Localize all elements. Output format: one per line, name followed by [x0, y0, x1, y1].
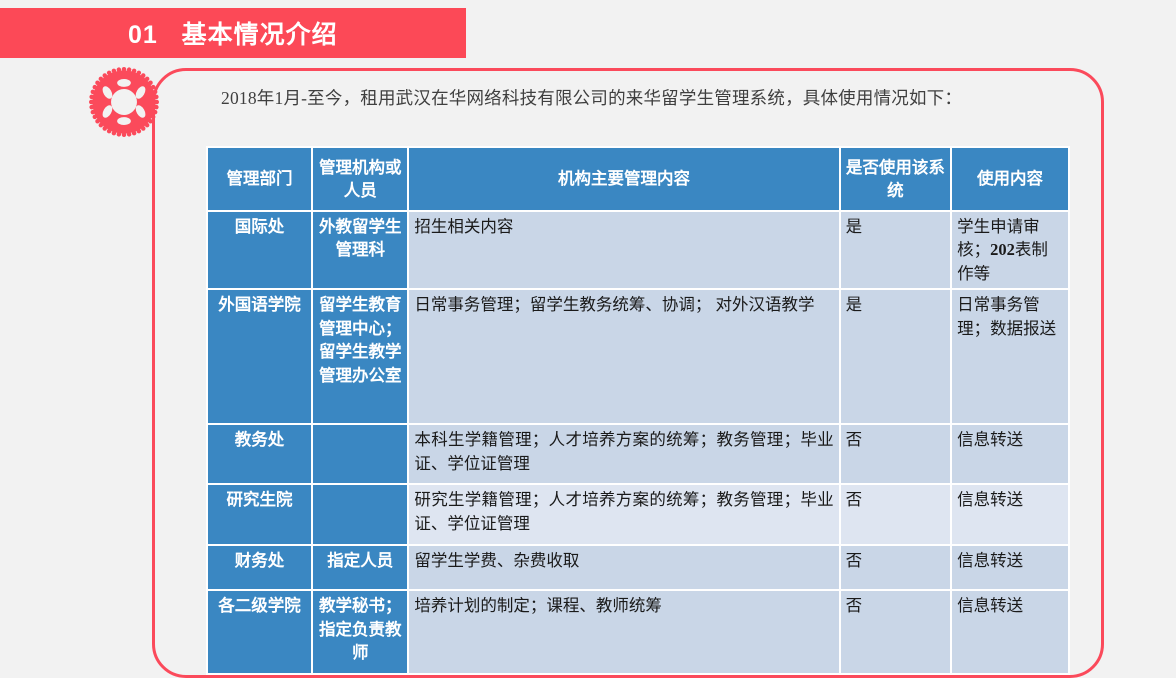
cell-content: 培养计划的制定；课程、教师统筹 [409, 591, 838, 673]
column-header-content: 机构主要管理内容 [409, 148, 838, 210]
cell-department: 财务处 [208, 546, 311, 589]
cell-department: 研究生院 [208, 485, 311, 544]
cell-usage: 信息转送 [952, 591, 1068, 673]
table-row: 教务处 本科生学籍管理；人才培养方案的统筹；教务管理；毕业证、学位证管理 否 信… [208, 425, 1068, 483]
cell-content: 留学生学费、杂费收取 [409, 546, 838, 589]
table-row: 国际处 外教留学生管理科 招生相关内容 是 学生申请审核；202表制作等 [208, 212, 1068, 288]
cell-usage: 信息转送 [952, 546, 1068, 589]
cell-usage: 日常事务管理；数据报送 [952, 290, 1068, 423]
cell-department: 教务处 [208, 425, 311, 483]
column-header-organization: 管理机构或人员 [313, 148, 407, 210]
page-title: 01 基本情况介绍 [128, 15, 338, 51]
cell-department: 国际处 [208, 212, 311, 288]
gear-icon [88, 66, 160, 138]
cell-organization: 指定人员 [313, 546, 407, 589]
cell-uses-system: 否 [841, 485, 950, 544]
cell-uses-system: 否 [841, 546, 950, 589]
section-title-banner: 01 基本情况介绍 [0, 8, 466, 58]
section-number: 01 [128, 21, 158, 49]
cell-uses-system: 是 [841, 212, 950, 288]
cell-uses-system: 否 [841, 591, 950, 673]
cell-department: 外国语学院 [208, 290, 311, 423]
cell-department: 各二级学院 [208, 591, 311, 673]
cell-content: 研究生学籍管理；人才培养方案的统筹；教务管理；毕业证、学位证管理 [409, 485, 838, 544]
cell-usage: 学生申请审核；202表制作等 [952, 212, 1068, 288]
usage-table: 管理部门 管理机构或人员 机构主要管理内容 是否使用该系统 使用内容 国际处 外… [206, 146, 1070, 675]
table-row: 研究生院 研究生学籍管理；人才培养方案的统筹；教务管理；毕业证、学位证管理 否 … [208, 485, 1068, 544]
table-row: 外国语学院 留学生教育管理中心；留学生教学管理办公室 日常事务管理；留学生教务统… [208, 290, 1068, 423]
table-row: 各二级学院 教学秘书；指定负责教师 培养计划的制定；课程、教师统筹 否 信息转送 [208, 591, 1068, 673]
cell-uses-system: 是 [841, 290, 950, 423]
cell-uses-system: 否 [841, 425, 950, 483]
column-header-department: 管理部门 [208, 148, 311, 210]
cell-content: 本科生学籍管理；人才培养方案的统筹；教务管理；毕业证、学位证管理 [409, 425, 838, 483]
cell-organization: 教学秘书；指定负责教师 [313, 591, 407, 673]
intro-paragraph: 2018年1月-至今，租用武汉在华网络科技有限公司的来华留学生管理系统，具体使用… [186, 84, 1086, 112]
cell-content: 招生相关内容 [409, 212, 838, 288]
section-title-text: 基本情况介绍 [182, 21, 338, 49]
cell-organization: 外教留学生管理科 [313, 212, 407, 288]
usage-form-number: 202 [990, 240, 1015, 259]
table-header-row: 管理部门 管理机构或人员 机构主要管理内容 是否使用该系统 使用内容 [208, 148, 1068, 210]
table-row: 财务处 指定人员 留学生学费、杂费收取 否 信息转送 [208, 546, 1068, 589]
cell-usage: 信息转送 [952, 485, 1068, 544]
cell-organization [313, 425, 407, 483]
column-header-uses-system: 是否使用该系统 [841, 148, 950, 210]
cell-organization: 留学生教育管理中心；留学生教学管理办公室 [313, 290, 407, 423]
cell-usage: 信息转送 [952, 425, 1068, 483]
column-header-usage: 使用内容 [952, 148, 1068, 210]
cell-content: 日常事务管理；留学生教务统筹、协调； 对外汉语教学 [409, 290, 838, 423]
cell-organization [313, 485, 407, 544]
